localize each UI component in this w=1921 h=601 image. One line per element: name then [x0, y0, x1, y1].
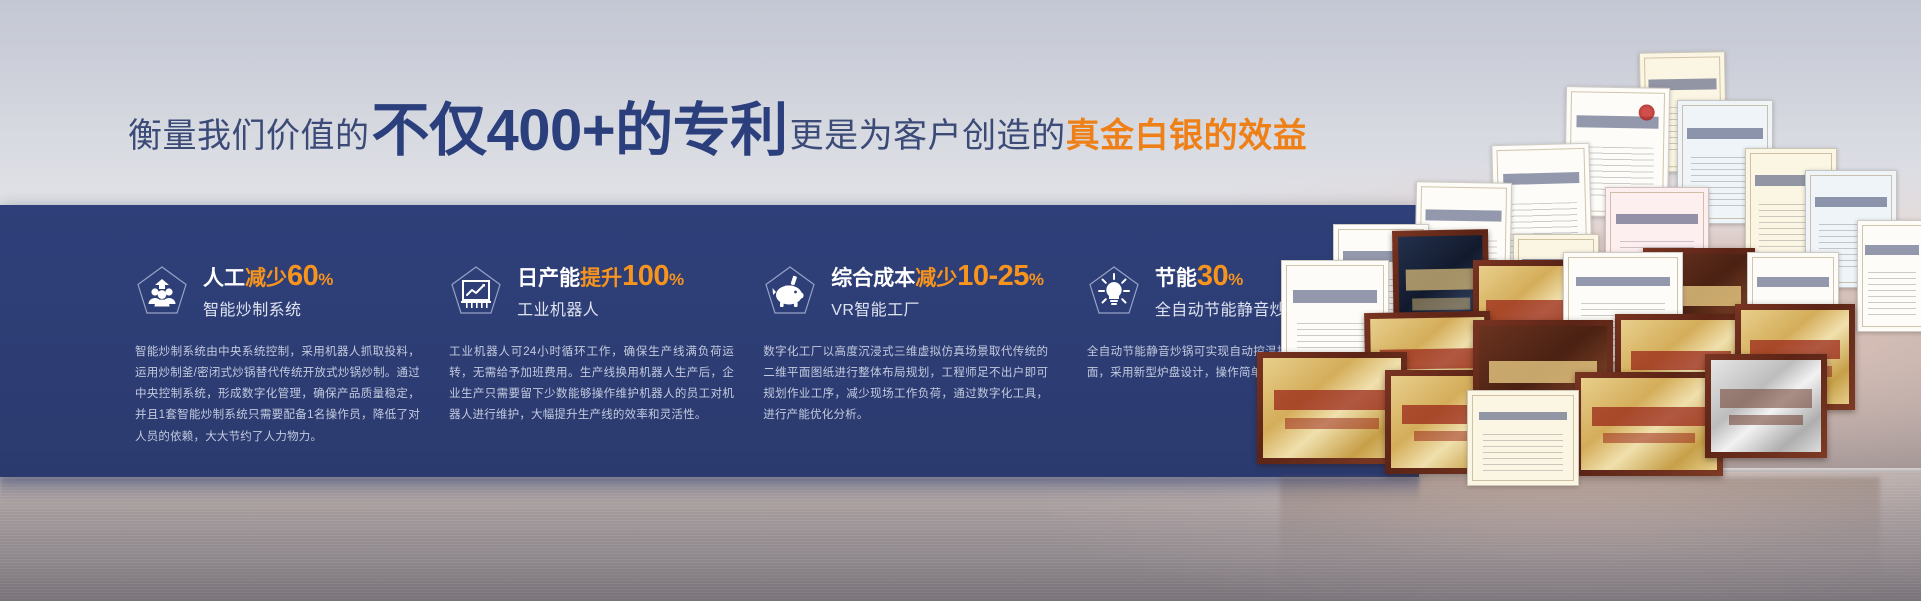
metric-number: 10-25	[957, 260, 1029, 292]
feature-panel: 人工减少60% 智能炒制系统 智能炒制系统由中央系统控制，采用机器人抓取投料，运…	[0, 205, 1419, 477]
metric-unit: %	[1029, 270, 1044, 289]
headline-middle: 更是为客户创造的	[790, 108, 1066, 157]
metric-number: 60	[287, 260, 318, 292]
metric-verb: 减少	[915, 267, 957, 290]
panel-reflection	[0, 477, 1419, 503]
lightbulb-icon	[1087, 264, 1141, 318]
feature-subtitle: 工业机器人	[517, 296, 684, 320]
metric-number: 30	[1197, 260, 1228, 292]
metric-verb: 减少	[245, 267, 287, 290]
feature-column-3: 综合成本减少10-25% VR智能工厂 数字化工厂以高度沉浸式三维虚拟仿真场景取…	[763, 205, 1087, 477]
feature-text-1: 人工减少60% 智能炒制系统	[203, 262, 333, 320]
metric-line-1: 人工减少60%	[203, 262, 333, 292]
metric-unit: %	[1228, 270, 1243, 289]
metric-label: 人工	[203, 267, 245, 290]
feature-header-1: 人工减少60% 智能炒制系统	[135, 262, 427, 320]
feature-subtitle: 智能炒制系统	[203, 296, 333, 320]
metric-number: 100	[622, 260, 669, 292]
feature-header-2: 日产能提升100% 工业机器人	[449, 262, 741, 320]
metric-label: 节能	[1155, 267, 1197, 290]
feature-column-2: 日产能提升100% 工业机器人 工业机器人可24小时循环工作，确保生产线满负荷运…	[449, 205, 763, 477]
metric-label: 日产能	[517, 267, 580, 290]
page-title: 衡量我们价值的 不仅400+的专利 更是为客户创造的 真金白银的效益	[128, 80, 1307, 164]
water-surface	[0, 472, 1921, 601]
pile-reflection	[1280, 477, 1880, 587]
metric-unit: %	[669, 270, 684, 289]
metric-verb: 提升	[580, 267, 622, 290]
piggy-bank-icon	[763, 264, 817, 318]
metric-line-3: 综合成本减少10-25%	[831, 262, 1044, 292]
chart-board-icon	[449, 264, 503, 318]
award-plaque	[1705, 354, 1827, 458]
feature-header-3: 综合成本减少10-25% VR智能工厂	[763, 262, 1065, 320]
people-group-icon	[135, 264, 189, 318]
certificate	[1467, 390, 1579, 486]
feature-text-3: 综合成本减少10-25% VR智能工厂	[831, 262, 1044, 320]
certificate-wall	[1245, 52, 1921, 477]
metric-label: 综合成本	[831, 267, 915, 290]
feature-body: 工业机器人可24小时循环工作，确保生产线满负荷运转，无需给予加班费用。生产线换用…	[449, 342, 734, 427]
metric-unit: %	[318, 270, 333, 289]
feature-body: 数字化工厂以高度沉浸式三维虚拟仿真场景取代传统的二维平面图纸进行整体布局规划，工…	[763, 342, 1048, 427]
award-plaque	[1575, 372, 1723, 476]
feature-columns: 人工减少60% 智能炒制系统 智能炒制系统由中央系统控制，采用机器人抓取投料，运…	[135, 205, 1401, 477]
feature-subtitle: VR智能工厂	[831, 296, 1044, 320]
water-glow	[1050, 472, 1921, 601]
feature-body: 智能炒制系统由中央系统控制，采用机器人抓取投料，运用炒制釜/密闭式炒锅替代传统开…	[135, 342, 420, 448]
metric-line-2: 日产能提升100%	[517, 262, 684, 292]
certificate	[1857, 220, 1921, 332]
feature-text-2: 日产能提升100% 工业机器人	[517, 262, 684, 320]
headline-prefix: 衡量我们价值的	[128, 108, 370, 157]
feature-column-1: 人工减少60% 智能炒制系统 智能炒制系统由中央系统控制，采用机器人抓取投料，运…	[135, 205, 449, 477]
banner-stage: 衡量我们价值的 不仅400+的专利 更是为客户创造的 真金白银的效益	[0, 0, 1921, 601]
headline-emphasis: 不仅400+的专利	[372, 83, 788, 167]
